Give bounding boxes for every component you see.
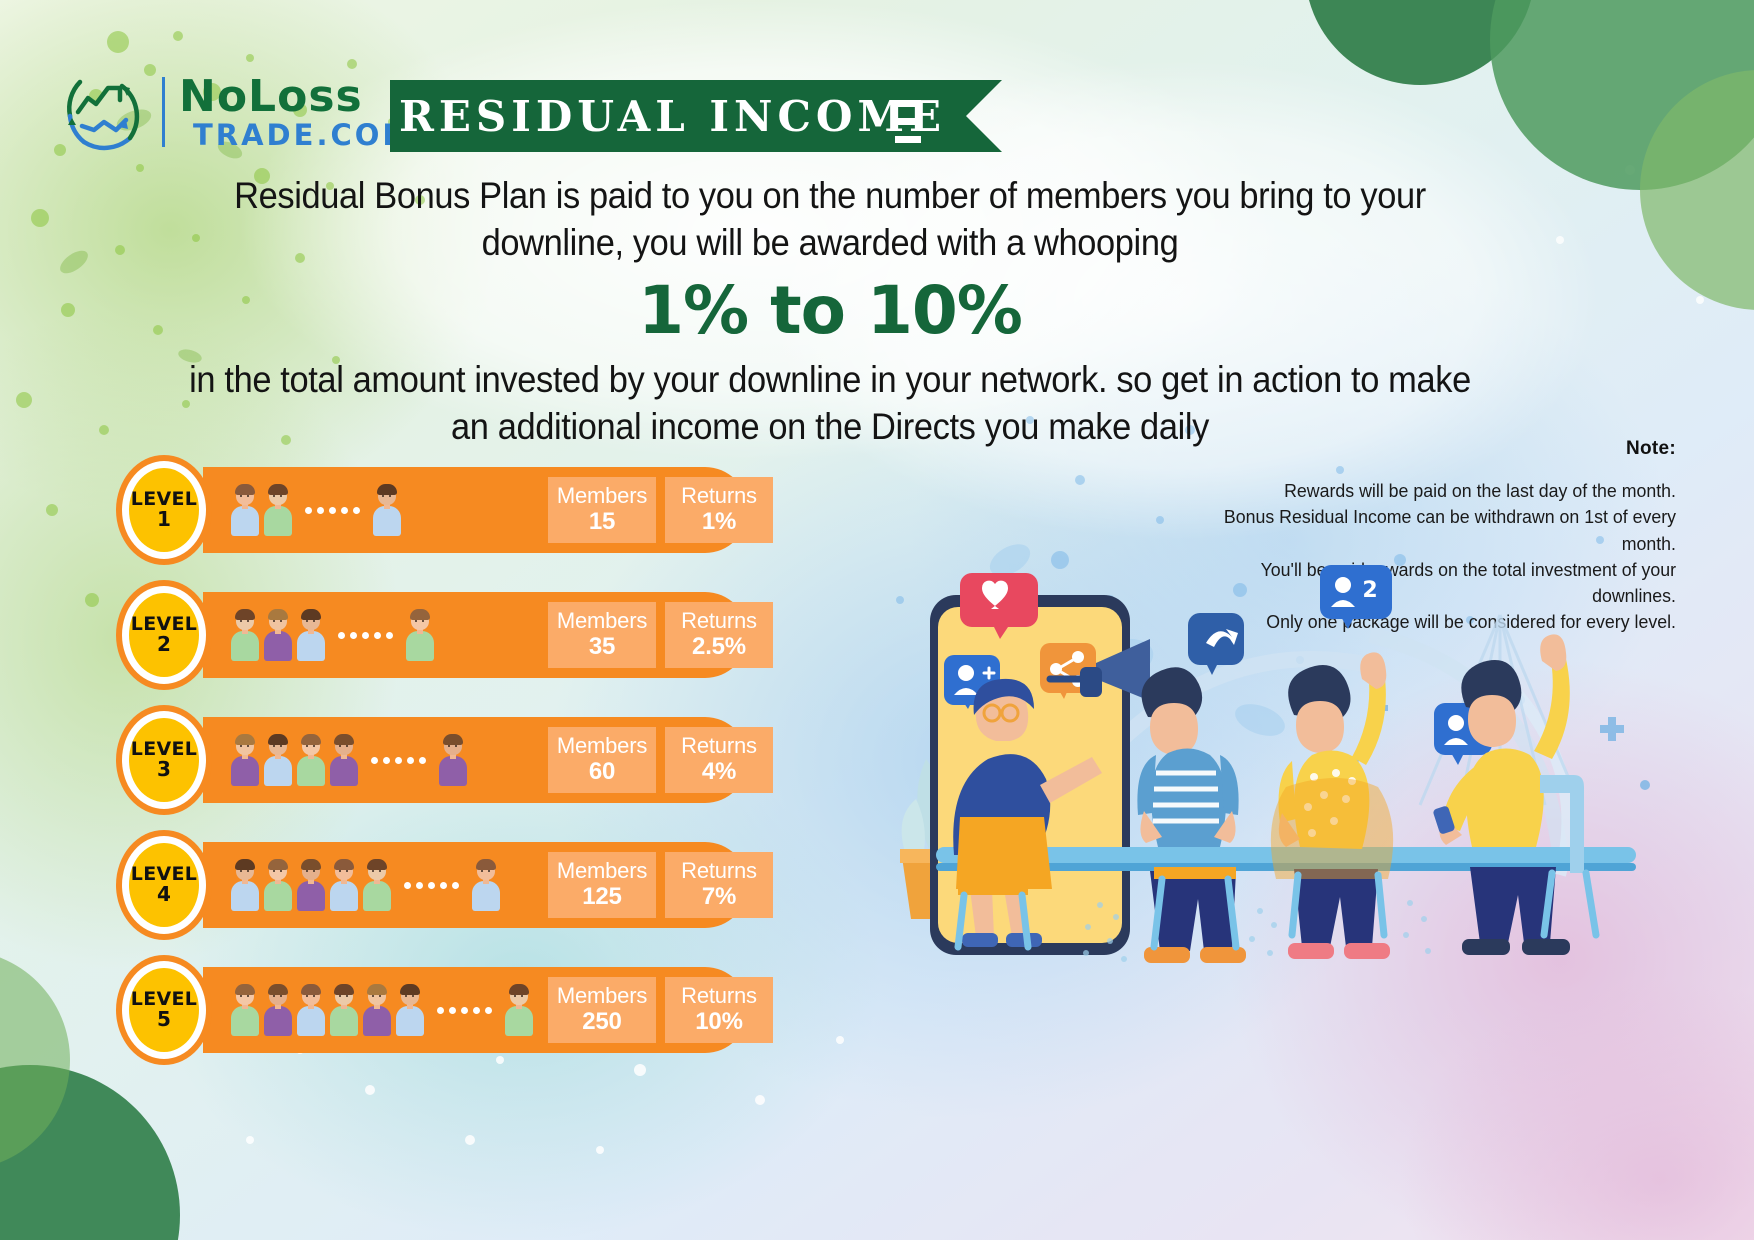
level-number: 1 [157,509,171,530]
member-avatar-icon [296,734,326,786]
member-avatar-icon [263,859,293,911]
note-line: Rewards will be paid on the last day of … [1177,478,1676,504]
members-stat: Members250 [548,977,656,1043]
brand-name-top: NoLoss [179,75,414,119]
member-avatar-icon [362,859,392,911]
members-value: 15 [589,509,615,536]
returns-stat: Returns1% [665,477,773,543]
member-avatars [230,606,435,664]
level-row: LEVEL4Members125Returns7% [108,830,768,955]
returns-stat: Returns4% [665,727,773,793]
members-stat: Members35 [548,602,656,668]
svg-text:2: 2 [1362,578,1377,603]
level-label: LEVEL [131,990,197,1010]
returns-value: 2.5% [692,634,746,661]
returns-label: Returns [681,609,757,634]
note-title: Note: [1156,438,1676,460]
members-stat: Members125 [548,852,656,918]
returns-value: 1% [702,509,736,536]
page-title: RESIDUAL INCOME [390,80,955,152]
returns-stat: Returns7% [665,852,773,918]
member-avatar-icon [230,484,260,536]
brand-logo[interactable]: NoLoss TRADE.COM [60,68,414,156]
level-number: 5 [157,1009,171,1030]
member-avatar-icon [395,984,425,1036]
members-value: 125 [582,884,621,911]
member-avatars [230,981,534,1039]
member-avatar-icon [296,984,326,1036]
ellipsis-dots [371,757,426,764]
members-value: 35 [589,634,615,661]
members-label: Members [557,484,647,509]
member-avatar-icon [362,984,392,1036]
member-avatar-icon [230,734,260,786]
highlight-percentage: 1% to 10% [120,272,1540,349]
members-value: 250 [582,1009,621,1036]
ellipsis-dots [404,882,459,889]
level-number: 3 [157,759,171,780]
member-avatar-icon [230,859,260,911]
ellipsis-dots [437,1007,492,1014]
bull-bear-circle-icon [60,68,148,156]
members-value: 60 [589,759,615,786]
member-avatar-icon [329,984,359,1036]
intro-paragraph-top: Residual Bonus Plan is paid to you on th… [170,172,1491,267]
returns-value: 4% [702,759,736,786]
member-avatar-icon [438,734,468,786]
returns-value: 7% [702,884,736,911]
members-stat: Members60 [548,727,656,793]
members-label: Members [557,859,647,884]
returns-stat: Returns2.5% [665,602,773,668]
returns-label: Returns [681,734,757,759]
level-row: LEVEL3Members60Returns4% [108,705,768,830]
person-striped-shirt [1137,667,1246,963]
add-user-2-icon: 2 [1320,565,1392,629]
member-avatars [230,856,501,914]
ellipsis-dots [338,632,393,639]
person-hand-raised [1271,652,1393,959]
member-avatar-icon [263,484,293,536]
returns-stat: Returns10% [665,977,773,1043]
member-avatar-icon [230,984,260,1036]
member-avatar-icon [372,484,402,536]
intro-paragraph-bottom: in the total amount invested by your dow… [170,356,1491,451]
member-avatar-icon [296,859,326,911]
member-avatar-icon [405,609,435,661]
member-avatar-icon [504,984,534,1036]
ellipsis-dots [305,507,360,514]
member-avatar-icon [329,734,359,786]
returns-label: Returns [681,984,757,1009]
person-with-phone [1432,634,1596,955]
level-label: LEVEL [131,490,197,510]
people-at-table-social-media-illustration: 2 [900,555,1700,1025]
note-line: Bonus Residual Income can be withdrawn o… [1177,504,1676,557]
brand-name-bottom: TRADE.COM [193,121,414,150]
level-label: LEVEL [131,615,197,635]
level-row: LEVEL5Members250Returns10% [108,955,768,1080]
member-avatar-icon [329,859,359,911]
member-avatar-icon [296,609,326,661]
member-avatar-icon [263,734,293,786]
members-label: Members [557,984,647,1009]
member-avatar-icon [263,609,293,661]
member-avatars [230,481,402,539]
level-label: LEVEL [131,865,197,885]
members-label: Members [557,609,647,634]
returns-value: 10% [695,1009,742,1036]
level-number: 4 [157,884,171,905]
level-row: LEVEL1Members15Returns1% [108,455,768,580]
member-avatar-icon [471,859,501,911]
member-avatars [230,731,468,789]
member-avatar-icon [263,984,293,1036]
returns-label: Returns [681,859,757,884]
level-row: LEVEL2Members35Returns2.5% [108,580,768,705]
returns-label: Returns [681,484,757,509]
members-stat: Members15 [548,477,656,543]
level-number: 2 [157,634,171,655]
logo-divider [162,77,165,147]
members-label: Members [557,734,647,759]
member-avatar-icon [230,609,260,661]
levels-table: LEVEL1Members15Returns1%LEVEL2Members35R… [108,455,768,1080]
level-label: LEVEL [131,740,197,760]
